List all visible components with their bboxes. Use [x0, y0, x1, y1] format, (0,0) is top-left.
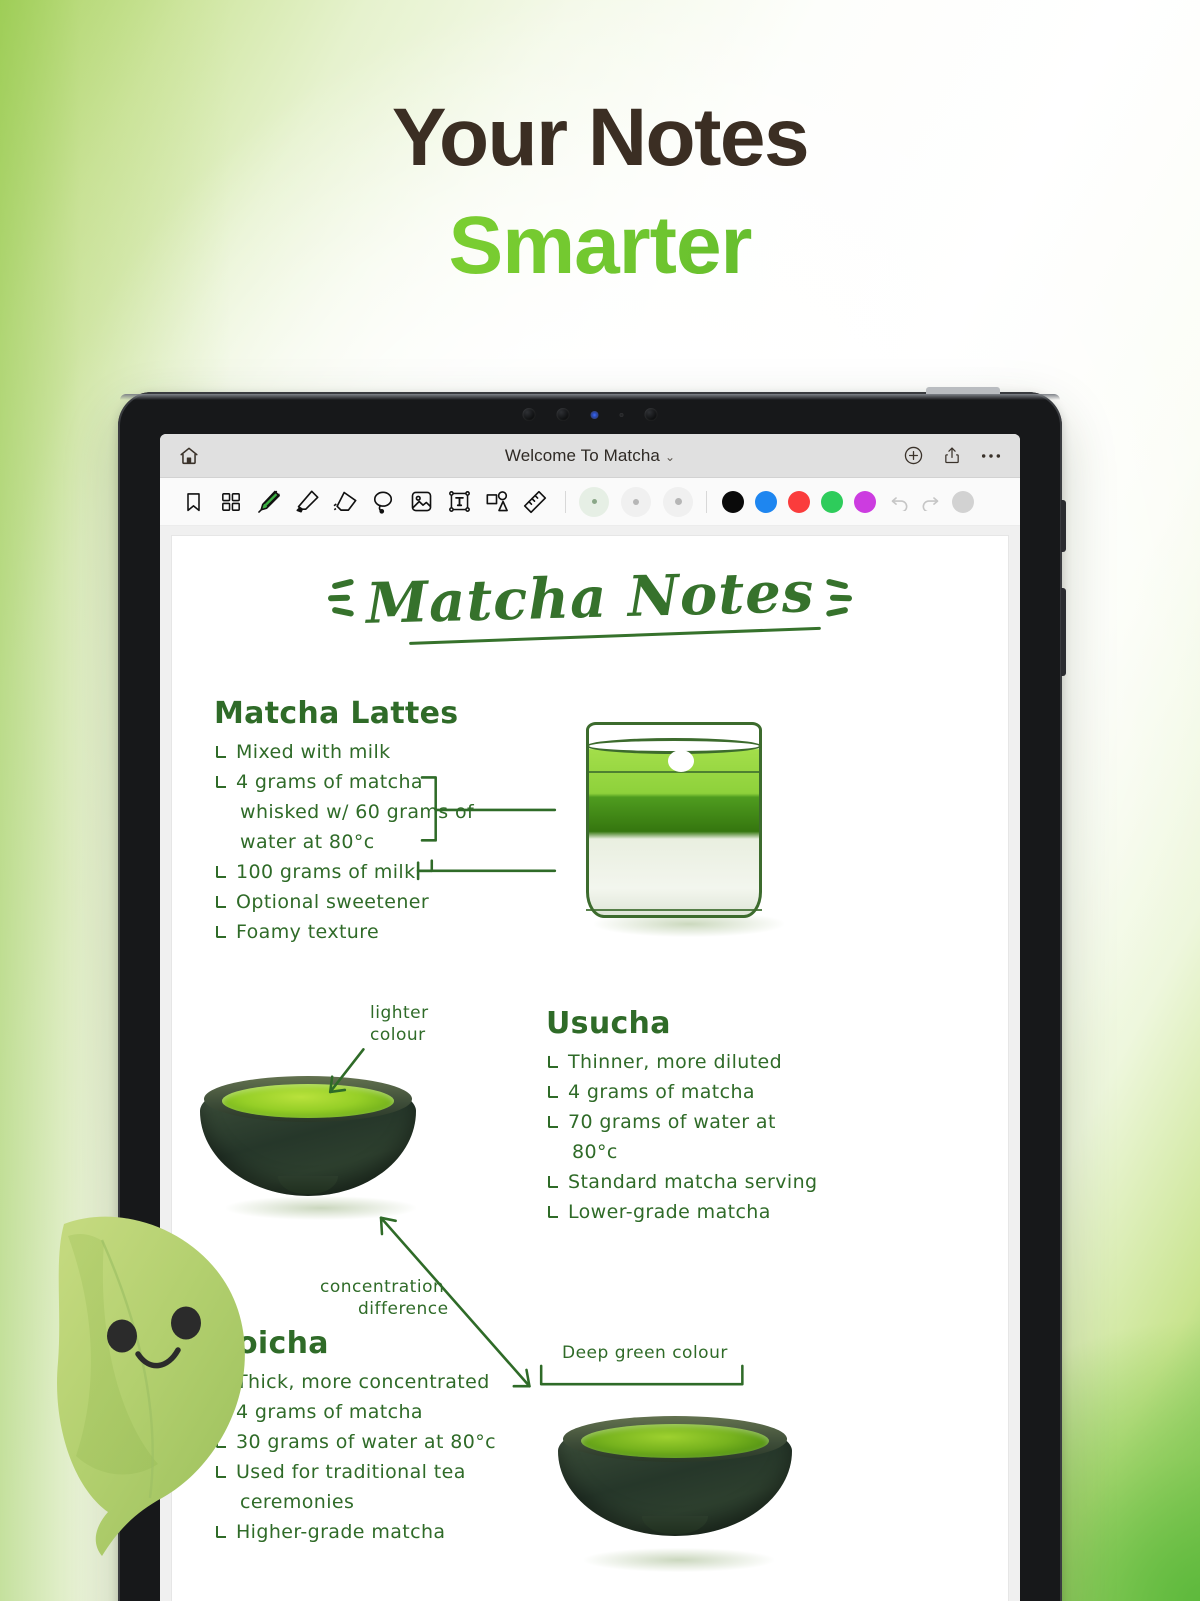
- annotation-line: lighter: [370, 1002, 429, 1024]
- share-icon[interactable]: [942, 445, 962, 466]
- koicha-bowl-illustration: [558, 1406, 792, 1568]
- redo-icon[interactable]: [920, 493, 940, 511]
- color-swatches: [722, 491, 876, 513]
- note-canvas-scroll[interactable]: Matcha Notes Matcha Lattes Mixed with mi…: [160, 526, 1020, 1601]
- bullet-text: 4 grams of matcha: [568, 1081, 755, 1103]
- account-circle[interactable]: [952, 491, 974, 513]
- home-icon[interactable]: [178, 445, 200, 467]
- list-item: Foamy texture: [214, 917, 514, 947]
- note-page[interactable]: Matcha Notes Matcha Lattes Mixed with mi…: [172, 536, 1008, 1601]
- bullet-text: Thinner, more diluted: [568, 1051, 782, 1073]
- camera-lens-icon: [645, 408, 658, 421]
- marketing-headline: Your Notes Smarter: [0, 96, 1200, 287]
- annotation-line: Deep green colour: [562, 1342, 728, 1364]
- plus-circle-icon[interactable]: [903, 445, 924, 466]
- lasso-icon[interactable]: [366, 485, 400, 519]
- leaf-eye-left: [107, 1320, 137, 1353]
- list-item: 100 grams of milk: [214, 857, 514, 887]
- section-heading: Usucha: [546, 1006, 866, 1041]
- document-title[interactable]: Welcome To Matcha⌄: [160, 446, 1020, 466]
- eraser-icon[interactable]: [328, 485, 362, 519]
- annotation-lighter-colour: lighter colour: [370, 1002, 429, 1047]
- section-usucha: Usucha Thinner, more diluted 4 grams of …: [546, 1006, 866, 1227]
- section-heading: Matcha Lattes: [214, 696, 514, 731]
- thickness-dot: [633, 499, 639, 505]
- screenshot-stage: Your Notes Smarter: [0, 0, 1200, 1601]
- list-item: 4 grams of matcha: [546, 1077, 866, 1107]
- bowl-foot: [278, 1176, 338, 1194]
- bullet-continuation: ceremonies: [236, 1487, 534, 1517]
- textbox-icon[interactable]: [442, 485, 476, 519]
- headline-line-1: Your Notes: [0, 96, 1200, 180]
- swatch-magenta[interactable]: [854, 491, 876, 513]
- drawing-toolbar: [160, 478, 1020, 526]
- decorative-dashes-left: [328, 582, 350, 614]
- shapes-icon[interactable]: [480, 485, 514, 519]
- thickness-medium[interactable]: [621, 487, 651, 517]
- bullet-text: Lower-grade matcha: [568, 1201, 771, 1223]
- annotation-concentration-difference: concentration difference: [320, 1276, 490, 1321]
- list-item: 4 grams of matcha whisked w/ 60 grams of…: [214, 767, 514, 857]
- image-icon[interactable]: [404, 485, 438, 519]
- highlighter-icon[interactable]: [290, 485, 324, 519]
- bullet-text: Used for traditional tea: [236, 1461, 466, 1483]
- bullet-list: Mixed with milk 4 grams of matcha whiske…: [214, 737, 514, 947]
- bowl-shadow: [584, 1548, 774, 1572]
- swatch-green[interactable]: [821, 491, 843, 513]
- bullet-text: 30 grams of water at 80°c: [236, 1431, 496, 1453]
- leaf-eye-right: [171, 1307, 201, 1340]
- grid-icon[interactable]: [214, 485, 248, 519]
- toolbar-divider: [706, 491, 707, 513]
- bullet-text: 4 grams of matcha: [236, 771, 423, 793]
- glass-base-line: [586, 909, 762, 911]
- more-ellipsis-icon[interactable]: [980, 452, 1002, 460]
- decorative-dashes-right: [830, 582, 852, 614]
- chevron-down-icon: ⌄: [665, 450, 675, 464]
- list-item: Standard matcha serving: [546, 1167, 866, 1197]
- list-item: Optional sweetener: [214, 887, 514, 917]
- list-item: Thinner, more diluted: [546, 1047, 866, 1077]
- toolbar-divider: [565, 491, 566, 513]
- note-title-row: Matcha Notes: [172, 570, 1008, 626]
- swatch-red[interactable]: [788, 491, 810, 513]
- app-titlebar: Welcome To Matcha⌄: [160, 434, 1020, 478]
- headline-line-2: Smarter: [0, 204, 1200, 288]
- section-matcha-lattes: Matcha Lattes Mixed with milk 4 grams of…: [214, 696, 514, 947]
- bullet-text: Optional sweetener: [236, 891, 429, 913]
- swatch-black[interactable]: [722, 491, 744, 513]
- glass-foam-bubble: [668, 750, 694, 772]
- bullet-text: Standard matcha serving: [568, 1171, 817, 1193]
- thickness-large[interactable]: [663, 487, 693, 517]
- bullet-text: 100 grams of milk: [236, 861, 416, 883]
- leaf-mascot: [38, 1178, 268, 1578]
- bullet-text: Mixed with milk: [236, 741, 391, 763]
- tablet-top-button[interactable]: [926, 387, 1000, 394]
- annotation-line: difference: [320, 1298, 490, 1320]
- bullet-text: Foamy texture: [236, 921, 379, 943]
- bullet-text: Thick, more concentrated: [236, 1371, 490, 1393]
- volume-button[interactable]: [1061, 588, 1066, 676]
- annotation-deep-green-colour: Deep green colour: [562, 1342, 728, 1364]
- tablet-screen: Welcome To Matcha⌄: [160, 434, 1020, 1601]
- document-title-text: Welcome To Matcha: [505, 446, 660, 465]
- note-title: Matcha Notes: [365, 564, 815, 632]
- bowl-tea-surface: [222, 1084, 395, 1118]
- history-controls: [890, 493, 940, 511]
- bookmark-icon[interactable]: [176, 485, 210, 519]
- camera-sensor-strip: [523, 408, 658, 421]
- camera-lens-icon: [523, 408, 536, 421]
- bullet-text: 70 grams of water at: [568, 1111, 776, 1133]
- status-led-icon: [591, 411, 599, 419]
- pen-icon[interactable]: [252, 485, 286, 519]
- thickness-dot: [592, 499, 597, 504]
- list-item: 70 grams of water at 80°c: [546, 1107, 866, 1167]
- bowl-tea-surface: [581, 1424, 768, 1458]
- annotation-line: concentration: [320, 1276, 490, 1298]
- thickness-dot: [675, 498, 682, 505]
- bullet-continuation: 80°c: [568, 1137, 866, 1167]
- bowl-foot: [642, 1516, 708, 1534]
- ruler-icon[interactable]: [518, 485, 552, 519]
- note-title-text: Matcha Notes: [365, 559, 815, 637]
- power-button[interactable]: [1061, 500, 1066, 552]
- matcha-latte-glass-illustration: [564, 716, 784, 931]
- tablet-top-highlight: [120, 394, 1060, 400]
- annotation-line: colour: [370, 1024, 429, 1046]
- bullet-continuation: water at 80°c: [236, 827, 514, 857]
- thickness-small[interactable]: [579, 487, 609, 517]
- list-item: Mixed with milk: [214, 737, 514, 767]
- swatch-blue[interactable]: [755, 491, 777, 513]
- camera-lens-icon: [557, 408, 570, 421]
- undo-icon[interactable]: [890, 493, 910, 511]
- titlebar-actions: [903, 445, 1002, 466]
- bullet-list: Thinner, more diluted 4 grams of matcha …: [546, 1047, 866, 1227]
- list-item: Lower-grade matcha: [546, 1197, 866, 1227]
- bullet-continuation: whisked w/ 60 grams of: [236, 797, 514, 827]
- ambient-sensor-icon: [620, 413, 624, 417]
